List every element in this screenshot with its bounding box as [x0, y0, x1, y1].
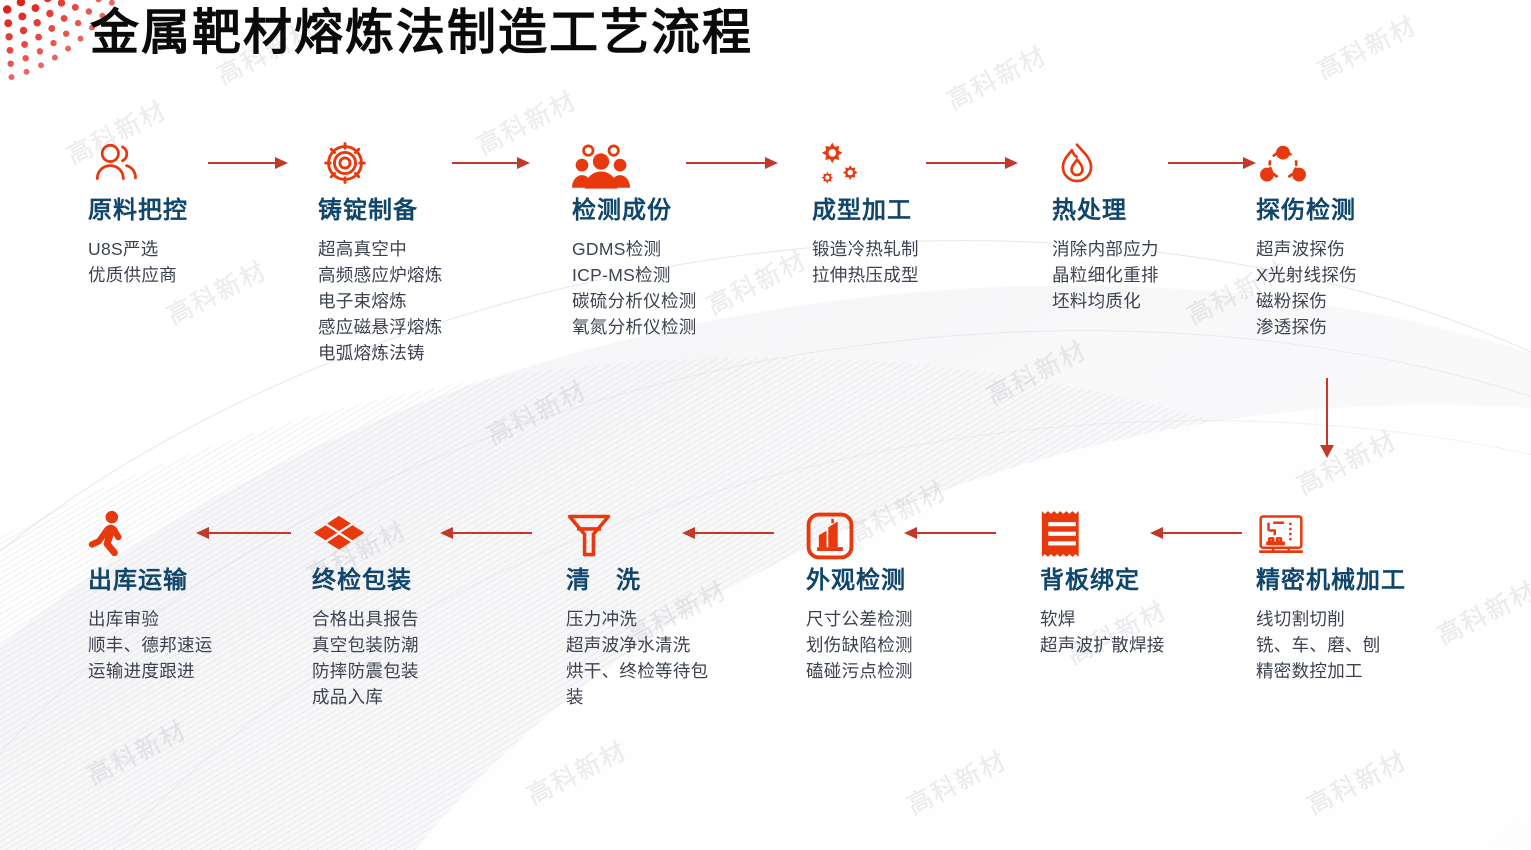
- step-detail-line: 防摔防震包装: [312, 658, 419, 684]
- flow-arrow-left: [682, 527, 774, 539]
- step-detail-list: 锻造冷热轧制拉伸热压成型: [812, 236, 919, 288]
- step-title: 原料把控: [88, 196, 188, 226]
- step-detail-line: 碳硫分析仪检测: [572, 288, 697, 314]
- people-group-icon: [572, 130, 697, 190]
- process-step-8: 背板绑定软焊超声波扩散焊接: [1040, 500, 1165, 658]
- process-step-2: 铸锭制备超高真空中高频感应炉熔炼电子束熔炼感应磁悬浮熔炼电弧熔炼法铸: [318, 130, 443, 366]
- gears-icon: [812, 130, 919, 190]
- step-title: 热处理: [1052, 196, 1159, 226]
- step-detail-line: 真空包装防潮: [312, 632, 419, 658]
- step-detail-line: 优质供应商: [88, 262, 188, 288]
- step-detail-line: 成品入库: [312, 684, 419, 710]
- open-box-icon: [312, 500, 419, 560]
- three-node-network-icon: [1256, 130, 1357, 190]
- step-title: 背板绑定: [1040, 566, 1165, 596]
- step-detail-line: 精密数控加工: [1256, 658, 1406, 684]
- flow-arrow-right: [208, 157, 288, 169]
- step-detail-list: 超高真空中高频感应炉熔炼电子束熔炼感应磁悬浮熔炼电弧熔炼法铸: [318, 236, 443, 366]
- step-detail-line: 划伤缺陷检测: [806, 632, 913, 658]
- step-detail-line: 运输进度跟进: [88, 658, 213, 684]
- process-flow-diagram: 原料把控U8S严选优质供应商铸锭制备超高真空中高频感应炉熔炼电子束熔炼感应磁悬浮…: [0, 0, 1531, 850]
- arrow-head: [517, 157, 530, 169]
- flow-arrow-left: [904, 527, 996, 539]
- arrow-head: [1005, 157, 1018, 169]
- step-detail-list: 消除内部应力晶粒细化重排坯料均质化: [1052, 236, 1159, 314]
- arrow-head: [275, 157, 288, 169]
- step-detail-line: GDMS检测: [572, 236, 697, 262]
- step-detail-line: 压力冲洗: [566, 606, 708, 632]
- step-detail-line: 晶粒细化重排: [1052, 262, 1159, 288]
- page-title: 金属靶材熔炼法制造工艺流程: [90, 2, 753, 64]
- step-detail-list: 软焊超声波扩散焊接: [1040, 606, 1165, 658]
- step-detail-line: X光射线探伤: [1256, 262, 1357, 288]
- step-detail-list: 线切割切削铣、车、磨、刨精密数控加工: [1256, 606, 1406, 684]
- step-detail-line: 合格出具报告: [312, 606, 419, 632]
- step-detail-line: 烘干、终检等待包: [566, 658, 708, 684]
- step-title: 检测成份: [572, 196, 697, 226]
- step-detail-line: 顺丰、德邦速运: [88, 632, 213, 658]
- step-detail-list: 尺寸公差检测划伤缺陷检测磕碰污点检测: [806, 606, 913, 684]
- inspection-factory-icon: [806, 500, 913, 560]
- step-detail-line: 超声波扩散焊接: [1040, 632, 1165, 658]
- cnc-machine-icon: [1256, 500, 1406, 560]
- process-step-6: 探伤检测超声波探伤X光射线探伤磁粉探伤渗透探伤: [1256, 130, 1357, 340]
- step-detail-line: 消除内部应力: [1052, 236, 1159, 262]
- arrow-shaft: [1326, 378, 1328, 446]
- step-detail-line: 磁粉探伤: [1256, 288, 1357, 314]
- process-step-11: 终检包装合格出具报告真空包装防潮防摔防震包装成品入库: [312, 500, 419, 710]
- gear-target-icon: [318, 130, 443, 190]
- step-detail-line: ICP-MS检测: [572, 262, 697, 288]
- header: 金属靶材熔炼法制造工艺流程: [90, 2, 753, 64]
- step-detail-line: 感应磁悬浮熔炼: [318, 314, 443, 340]
- step-detail-line: 拉伸热压成型: [812, 262, 919, 288]
- step-detail-line: 氧氮分析仪检测: [572, 314, 697, 340]
- arrow-shaft: [208, 162, 277, 164]
- step-detail-line: 渗透探伤: [1256, 314, 1357, 340]
- flow-arrow-right: [1168, 157, 1256, 169]
- step-detail-line: 铣、车、磨、刨: [1256, 632, 1406, 658]
- step-detail-list: 超声波探伤X光射线探伤磁粉探伤渗透探伤: [1256, 236, 1357, 340]
- flow-arrow-left: [440, 527, 532, 539]
- step-detail-line: 电弧熔炼法铸: [318, 340, 443, 366]
- flow-arrow-right: [686, 157, 778, 169]
- step-detail-line: 线切割切削: [1256, 606, 1406, 632]
- arrow-shaft: [207, 532, 291, 534]
- step-detail-line: 超高真空中: [318, 236, 443, 262]
- arrow-head: [765, 157, 778, 169]
- process-step-9: 外观检测尺寸公差检测划伤缺陷检测磕碰污点检测: [806, 500, 913, 684]
- arrow-head: [682, 527, 695, 539]
- process-step-12: 出库运输出库审验顺丰、德邦速运运输进度跟进: [88, 500, 213, 684]
- arrow-head: [904, 527, 917, 539]
- two-people-icon: [88, 130, 188, 190]
- step-detail-line: 超声波探伤: [1256, 236, 1357, 262]
- step-detail-line: 磕碰污点检测: [806, 658, 913, 684]
- step-detail-line: 锻造冷热轧制: [812, 236, 919, 262]
- process-step-4: 成型加工锻造冷热轧制拉伸热压成型: [812, 130, 919, 288]
- flow-arrow-down: [1320, 378, 1334, 458]
- arrow-head: [1150, 527, 1163, 539]
- step-detail-line: 装: [566, 684, 708, 710]
- flow-arrow-right: [452, 157, 530, 169]
- step-title: 外观检测: [806, 566, 913, 596]
- flow-arrow-right: [926, 157, 1018, 169]
- arrow-head: [196, 527, 209, 539]
- process-step-3: 检测成份GDMS检测ICP-MS检测碳硫分析仪检测氧氮分析仪检测: [572, 130, 697, 340]
- bonding-plate-icon: [1040, 500, 1165, 560]
- step-detail-line: U8S严选: [88, 236, 188, 262]
- arrow-head: [440, 527, 453, 539]
- arrow-shaft: [693, 532, 774, 534]
- step-detail-line: 坯料均质化: [1052, 288, 1159, 314]
- step-title: 探伤检测: [1256, 196, 1357, 226]
- step-title: 清 洗: [566, 566, 708, 596]
- step-detail-line: 超声波净水清洗: [566, 632, 708, 658]
- step-detail-list: 出库审验顺丰、德邦速运运输进度跟进: [88, 606, 213, 684]
- arrow-shaft: [915, 532, 996, 534]
- arrow-shaft: [452, 162, 519, 164]
- arrow-shaft: [451, 532, 532, 534]
- step-detail-line: 高频感应炉熔炼: [318, 262, 443, 288]
- step-detail-list: GDMS检测ICP-MS检测碳硫分析仪检测氧氮分析仪检测: [572, 236, 697, 340]
- step-title: 出库运输: [88, 566, 213, 596]
- step-detail-line: 出库审验: [88, 606, 213, 632]
- step-detail-line: 尺寸公差检测: [806, 606, 913, 632]
- walking-person-icon: [88, 500, 213, 560]
- step-detail-list: U8S严选优质供应商: [88, 236, 188, 288]
- process-step-5: 热处理消除内部应力晶粒细化重排坯料均质化: [1052, 130, 1159, 314]
- step-title: 精密机械加工: [1256, 566, 1406, 596]
- flow-arrow-left: [1150, 527, 1242, 539]
- step-detail-line: 软焊: [1040, 606, 1165, 632]
- step-detail-list: 压力冲洗超声波净水清洗烘干、终检等待包装: [566, 606, 708, 710]
- arrow-shaft: [686, 162, 767, 164]
- process-step-1: 原料把控U8S严选优质供应商: [88, 130, 188, 288]
- arrow-shaft: [926, 162, 1007, 164]
- arrow-head: [1243, 157, 1256, 169]
- step-title: 铸锭制备: [318, 196, 443, 226]
- step-detail-list: 合格出具报告真空包装防潮防摔防震包装成品入库: [312, 606, 419, 710]
- flow-arrow-left: [196, 527, 291, 539]
- step-title: 成型加工: [812, 196, 919, 226]
- arrow-shaft: [1168, 162, 1245, 164]
- step-detail-line: 电子束熔炼: [318, 288, 443, 314]
- step-title: 终检包装: [312, 566, 419, 596]
- process-step-7: 精密机械加工线切割切削铣、车、磨、刨精密数控加工: [1256, 500, 1406, 684]
- arrow-head: [1320, 445, 1334, 458]
- arrow-shaft: [1161, 532, 1242, 534]
- flame-icon: [1052, 130, 1159, 190]
